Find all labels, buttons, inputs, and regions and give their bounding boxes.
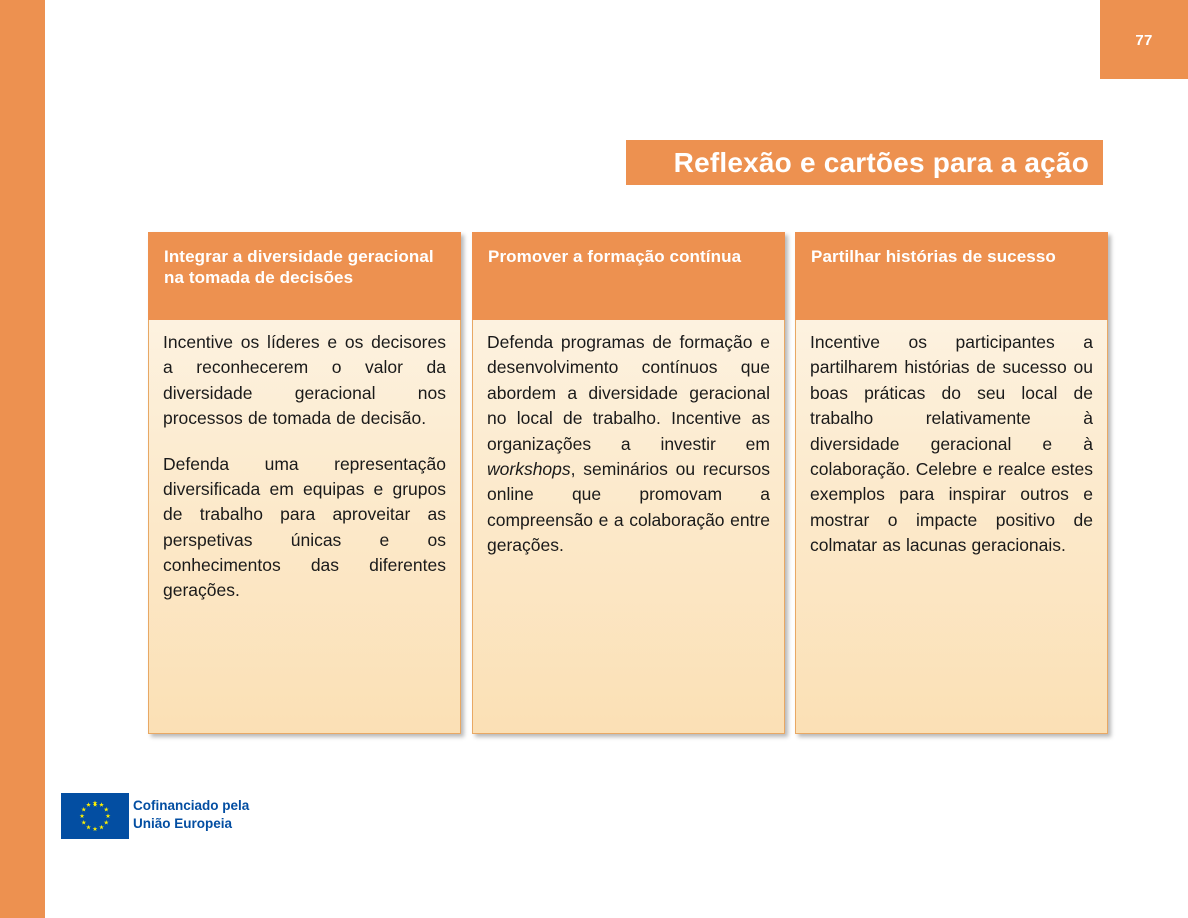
card-title: Partilhar histórias de sucesso [811, 246, 1092, 267]
eu-flag-icon [61, 793, 129, 839]
card-paragraph: Defenda programas de formação e desenvol… [487, 330, 770, 558]
page-number-block: 77 [1100, 0, 1188, 79]
slide-title-banner: Reflexão e cartões para a ação [626, 140, 1103, 185]
card-body: Incentive os participantes a partilharem… [795, 320, 1108, 734]
card-paragraph-pre: Defenda programas de formação e desenvol… [487, 332, 770, 454]
action-card: Integrar a diversidade geracional na tom… [148, 232, 461, 734]
card-title: Integrar a diversidade geracional na tom… [164, 246, 445, 289]
card-paragraph-emphasis: workshops [487, 459, 571, 479]
card-paragraph: Defenda uma representação diversificada … [163, 452, 446, 604]
page-number: 77 [1135, 32, 1152, 49]
card-body: Incentive os líderes e os decisores a re… [148, 320, 461, 734]
card-body: Defenda programas de formação e desenvol… [472, 320, 785, 734]
left-accent-bar [0, 0, 45, 918]
action-cards-row: Integrar a diversidade geracional na tom… [148, 232, 1113, 740]
card-header: Partilhar histórias de sucesso [795, 232, 1108, 320]
page-title: Reflexão e cartões para a ação [674, 147, 1089, 179]
card-paragraph: Incentive os participantes a partilharem… [810, 330, 1093, 558]
action-card: Promover a formação contínua Defenda pro… [472, 232, 785, 734]
card-title: Promover a formação contínua [488, 246, 769, 267]
card-header: Promover a formação contínua [472, 232, 785, 320]
card-paragraph: Incentive os líderes e os decisores a re… [163, 330, 446, 432]
action-card: Partilhar histórias de sucesso Incentive… [795, 232, 1108, 734]
eu-cofunding-logo: Cofinanciado pela União Europeia [61, 793, 291, 841]
card-header: Integrar a diversidade geracional na tom… [148, 232, 461, 320]
eu-logo-text: Cofinanciado pela União Europeia [133, 797, 249, 833]
